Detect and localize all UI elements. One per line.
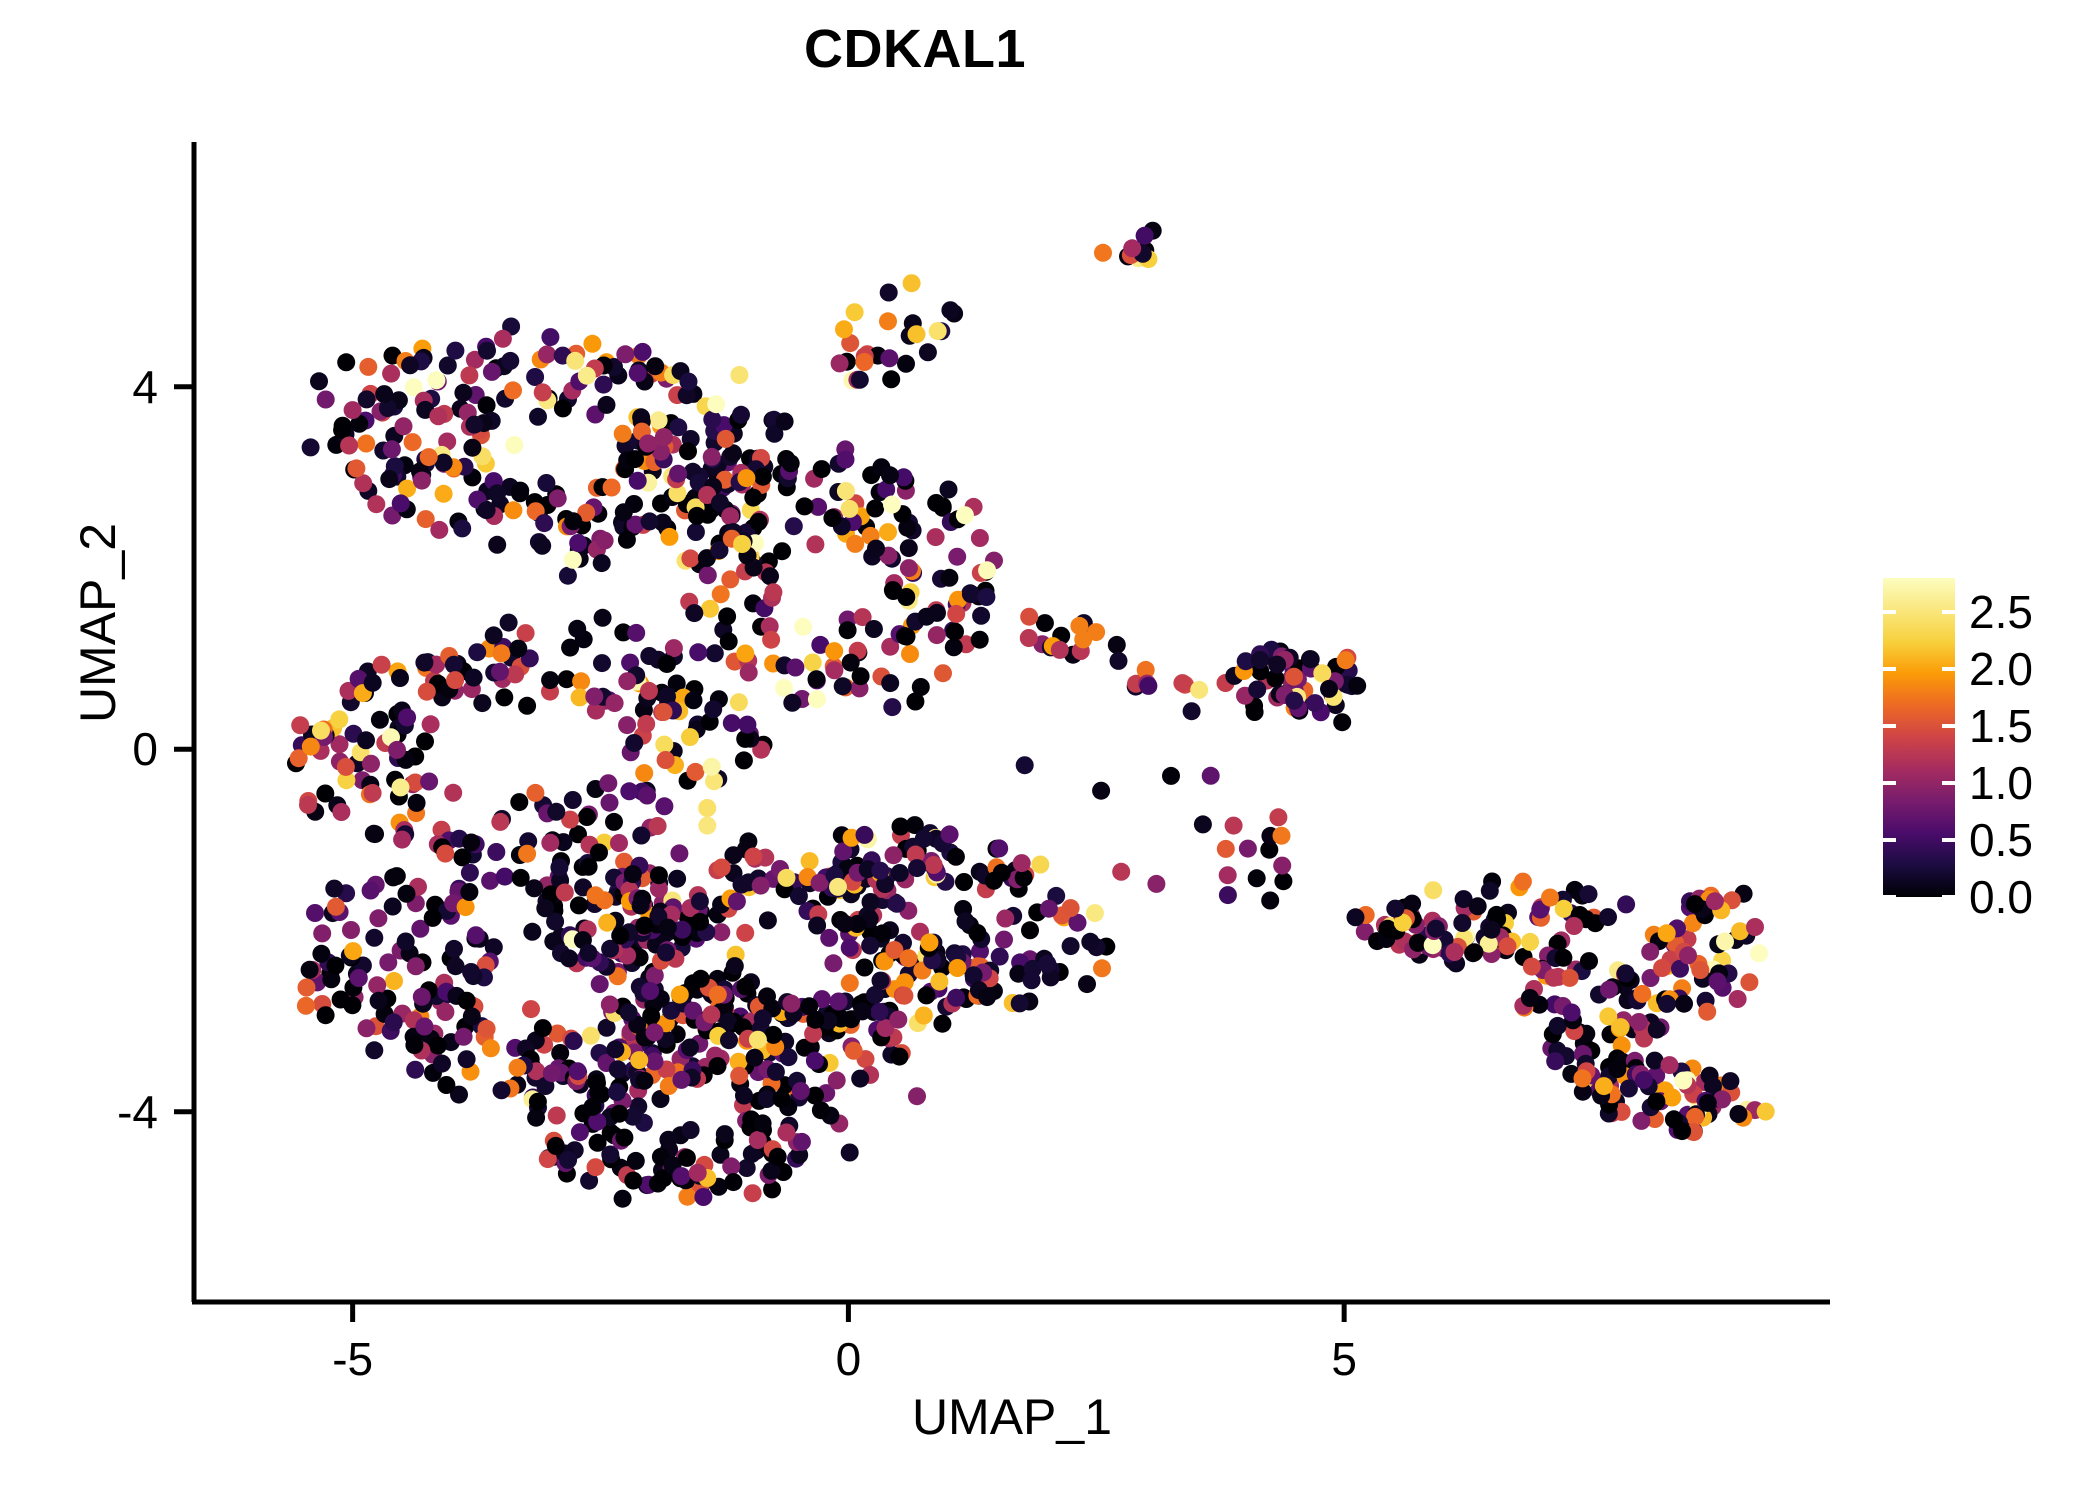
scatter-point [1036,614,1054,632]
scatter-point [298,979,316,997]
scatter-point [487,843,505,861]
scatter-point [897,355,915,373]
scatter-point [955,873,973,891]
scatter-point [1647,1093,1665,1111]
scatter-point [716,1125,734,1143]
scatter-point [473,694,491,712]
scatter-point [841,974,859,992]
scatter-point [1574,1069,1592,1087]
scatter-point [406,1061,424,1079]
scatter-point [518,697,536,715]
scatter-point [1653,959,1671,977]
scatter-point [1246,703,1264,721]
scatter-point [332,803,350,821]
scatter-point [445,940,463,958]
scatter-point [549,489,567,507]
scatter-point [418,683,436,701]
scatter-point [491,663,509,681]
scatter-point [485,626,503,644]
scatter-point [1139,677,1157,695]
scatter-point [749,1131,767,1149]
scatter-point [956,506,974,524]
scatter-point [1565,917,1583,935]
scatter-point [1038,955,1056,973]
scatter-point [841,939,859,957]
scatter-point [1347,908,1365,926]
scatter-point [639,435,657,453]
scatter-point [340,437,358,455]
scatter-point [522,1000,540,1018]
scatter-point [1020,608,1038,626]
scatter-point [413,472,431,490]
scatter-point [337,758,355,776]
scatter-point [598,914,616,932]
scatter-point [509,1059,527,1077]
scatter-point [831,354,849,372]
scatter-point [436,845,454,863]
scatter-point [993,864,1011,882]
scatter-point [547,803,565,821]
scatter-point [630,1051,648,1069]
scatter-point [1190,681,1208,699]
scatter-point [720,632,738,650]
scatter-point [342,921,360,939]
scatter-point [614,425,632,443]
scatter-point [846,303,864,321]
scatter-point [1730,1105,1748,1123]
scatter-point [446,342,464,360]
scatter-point [559,567,577,585]
scatter-point [312,722,330,740]
scatter-point [359,358,377,376]
scatter-point [344,942,362,960]
scatter-point [465,669,483,687]
scatter-point [627,624,645,642]
scatter-point [478,396,496,414]
scatter-point [362,755,380,773]
scatter-point [699,566,717,584]
scatter-point [407,957,425,975]
scatter-point [1617,964,1635,982]
scatter-point [746,1049,764,1067]
scatter-point [1093,959,1111,977]
scatter-point [1483,921,1501,939]
scatter-point [615,503,633,521]
scatter-point [1554,949,1572,967]
scatter-point [703,448,721,466]
scatter-point [605,813,623,831]
scatter-point [794,618,812,636]
scatter-point [879,312,897,330]
scatter-point [1612,1018,1630,1036]
scatter-point [1521,989,1539,1007]
scatter-point [398,708,416,726]
scatter-point [578,367,596,385]
scatter-point [404,433,422,451]
scatter-point [379,953,397,971]
scatter-point [762,631,780,649]
scatter-point [593,654,611,672]
scatter-point [392,494,410,512]
scatter-point [1641,943,1659,961]
scatter-point [395,417,413,435]
scatter-point [1595,1077,1613,1095]
scatter-point [744,848,762,866]
scatter-point [917,608,935,626]
scatter-point [972,607,990,625]
scatter-point [302,438,320,456]
scatter-point [337,353,355,371]
scatter-point [681,728,699,746]
scatter-point [1081,933,1099,951]
scatter-point [415,654,433,672]
colorbar-tick-right [1942,895,1955,899]
scatter-point [1706,892,1724,910]
scatter-point [375,385,393,403]
scatter-point [709,1057,727,1075]
scatter-point [587,886,605,904]
scatter-point [571,1123,589,1141]
scatter-point [1348,677,1366,695]
scatter-point [940,481,958,499]
scatter-point [845,1042,863,1060]
scatter-point [455,1028,473,1046]
scatter-point [1446,943,1464,961]
scatter-point [1173,674,1191,692]
colorbar-label-2-0: 2.0 [1969,646,2033,692]
colorbar-tick-right [1942,781,1955,785]
scatter-point [578,808,596,826]
scatter-point [800,997,818,1015]
scatter-point [730,1067,748,1085]
scatter-point [1219,886,1237,904]
scatter-point [595,376,613,394]
scatter-point [559,1151,577,1169]
scatter-point [881,466,899,484]
scatter-point [1716,933,1734,951]
scatter-point [603,479,621,497]
scatter-point [610,1105,628,1123]
scatter-point [1481,882,1499,900]
scatter-point [1541,889,1559,907]
scatter-point [435,485,453,503]
scatter-point [1523,958,1541,976]
scatter-point [694,1188,712,1206]
scatter-point [657,751,675,769]
scatter-point [641,512,659,530]
scatter-point [302,738,320,756]
scatter-point [564,512,582,530]
scatter-point [493,1081,511,1099]
scatter-point [1031,856,1049,874]
scatter-point [504,501,522,519]
colorbar-tick-right [1942,838,1955,842]
scatter-point [672,1167,690,1185]
scatter-point [488,484,506,502]
scatter-point [1285,668,1303,686]
scatter-point [702,1006,720,1024]
y-axis-title: UMAP_2 [73,223,123,1023]
scatter-point [804,654,822,672]
scatter-point [945,638,963,656]
scatter-point [358,1019,376,1037]
scatter-point [384,868,402,886]
scatter-point [1658,924,1676,942]
scatter-point [306,904,324,922]
scatter-point [681,549,699,567]
scatter-point [587,1158,605,1176]
scatter-point [500,614,518,632]
scatter-point [646,1023,664,1041]
scatter-point [1521,933,1539,951]
scatter-point [689,1164,707,1182]
scatter-point [327,898,345,916]
scatter-point [837,451,855,469]
scatter-point [646,1053,664,1071]
scatter-point [1219,866,1237,884]
scatter-point [825,661,843,679]
colorbar-label-1-5: 1.5 [1969,703,2033,749]
colorbar-gradient [1883,578,1955,897]
scatter-point [365,1041,383,1059]
scatter-point [685,691,703,709]
scatter-point [594,609,612,627]
scatter-point [691,892,709,910]
scatter-point [537,474,555,492]
scatter-point [659,1131,677,1149]
scatter-point [494,330,512,348]
scatter-point [422,715,440,733]
scatter-point [385,1013,403,1031]
scatter-point [1040,900,1058,918]
scatter-point [291,716,309,734]
scatter-point [626,450,644,468]
scatter-point [871,862,889,880]
scatter-point [1011,994,1029,1012]
scatter-point [1630,1013,1648,1031]
scatter-point [1709,973,1727,991]
scatter-point [830,993,848,1011]
scatter-point [1746,918,1764,936]
scatter-point [1225,817,1243,835]
scatter-point [606,694,624,712]
scatter-point [608,1083,626,1101]
scatter-point [1699,1094,1717,1112]
scatter-point [564,551,582,569]
scatter-point [686,763,704,781]
scatter-point [735,1087,753,1105]
scatter-point [1092,782,1110,800]
scatter-point [978,988,996,1006]
scatter-point [948,548,966,566]
scatter-point [930,973,948,991]
scatter-point [706,644,724,662]
scatter-point [968,924,986,942]
scatter-point [609,1060,627,1078]
scatter-point [1162,767,1180,785]
scatter-point [579,944,597,962]
scatter-point [1453,914,1471,932]
colorbar-tick-right [1942,724,1955,728]
scatter-point [444,784,462,802]
x-tick-label: -5 [332,1336,373,1382]
scatter-point [1248,681,1266,699]
scatter-point [569,534,587,552]
scatter-point [728,892,746,910]
scatter-point [365,825,383,843]
scatter-point [596,532,614,550]
scatter-point [856,826,874,844]
scatter-point [1674,1072,1692,1090]
scatter-point [492,644,510,662]
scatter-point [590,844,608,862]
scatter-point [483,363,501,381]
scatter-point [620,1003,638,1021]
scatter-point [897,588,915,606]
scatter-point [509,640,527,658]
scatter-point [1110,652,1128,670]
scatter-point [946,623,964,641]
scatter-point [730,366,748,384]
scatter-point [920,934,938,952]
scatter-point [796,497,814,515]
scatter-point [1729,990,1747,1008]
scatter-point [754,468,772,486]
scatter-point [1112,863,1130,881]
scatter-point [1217,840,1235,858]
scatter-point [310,372,328,390]
scatter-point [777,1124,795,1142]
scatter-point [778,869,796,887]
scatter-point [670,844,688,862]
scatter-point [865,620,883,638]
scatter-point [736,645,754,663]
scatter-point [900,949,918,967]
scatter-point [786,659,804,677]
scatter-point [790,887,808,905]
colorbar-tick-left [1883,724,1896,728]
scatter-point [657,944,675,962]
scatter-point [429,407,447,425]
scatter-point [852,667,870,685]
scatter-point [707,395,725,413]
scatter-point [995,931,1013,949]
scatter-point [1469,897,1487,915]
x-axis-title: UMAP_1 [194,1392,1830,1442]
scatter-point [1698,1003,1716,1021]
scatter-point [297,997,315,1015]
scatter-point [511,482,529,500]
scatter-point [564,791,582,809]
scatter-point [851,371,869,389]
scatter-point [703,758,721,776]
scatter-point [344,401,362,419]
scatter-point [688,507,706,525]
scatter-point [718,607,736,625]
scatter-point [369,909,387,927]
colorbar-tick-left [1883,895,1896,899]
scatter-point [646,357,664,375]
scatter-point [367,495,385,513]
scatter-point [856,959,874,977]
scatter-point [823,509,841,527]
scatter-point [1635,1071,1653,1089]
scatter-point [380,470,398,488]
scatter-point [585,688,603,706]
scatter-point [889,1011,907,1029]
scatter-point [720,1031,738,1049]
scatter-point [853,1002,871,1020]
scatter-point [615,1129,633,1147]
scatter-point [919,343,937,361]
scatter-point [1608,1060,1626,1078]
scatter-point [812,1101,830,1119]
scatter-point [527,1109,545,1127]
scatter-point [839,621,857,639]
scatter-point [638,787,656,805]
scatter-point [1386,900,1404,918]
scatter-point [569,1062,587,1080]
scatter-point [726,957,744,975]
scatter-point [460,883,478,901]
scatter-point [333,421,351,439]
scatter-point [635,764,653,782]
scatter-point [862,893,880,911]
scatter-point [962,585,980,603]
scatter-point [465,416,483,434]
scatter-point [543,1064,561,1082]
scatter-point [655,428,673,446]
scatter-point [941,825,959,843]
scatter-point [689,643,707,661]
scatter-point [733,535,751,553]
scatter-point [890,1048,908,1066]
scatter-point [529,408,547,426]
scatter-point [891,864,909,882]
scatter-point [744,489,762,507]
scatter-point [971,529,989,547]
scatter-point [627,1152,645,1170]
scatter-point [1617,895,1635,913]
scatter-point [554,399,572,417]
scatter-point [883,496,901,514]
scatter-point [701,600,719,618]
scatter-point [855,353,873,371]
scatter-point [793,1133,811,1151]
scatter-point [764,1026,782,1044]
scatter-point [416,732,434,750]
scatter-point [691,913,709,931]
scatter-point [737,469,755,487]
scatter-point [593,554,611,572]
scatter-point [570,896,588,914]
scatter-point [1580,885,1598,903]
scatter-point [1514,873,1532,891]
scatter-point [834,677,852,695]
scatter-point [599,774,617,792]
scatter-point [584,1098,602,1116]
scatter-point [365,929,383,947]
scatter-point [991,948,1009,966]
scatter-point [536,899,554,917]
scatter-point [568,620,586,638]
scatter-point [467,926,485,944]
scatter-point [641,982,659,1000]
scatter-point [682,1121,700,1139]
scatter-point [724,1173,742,1191]
scatter-point [977,588,995,606]
scatter-point [632,897,650,915]
